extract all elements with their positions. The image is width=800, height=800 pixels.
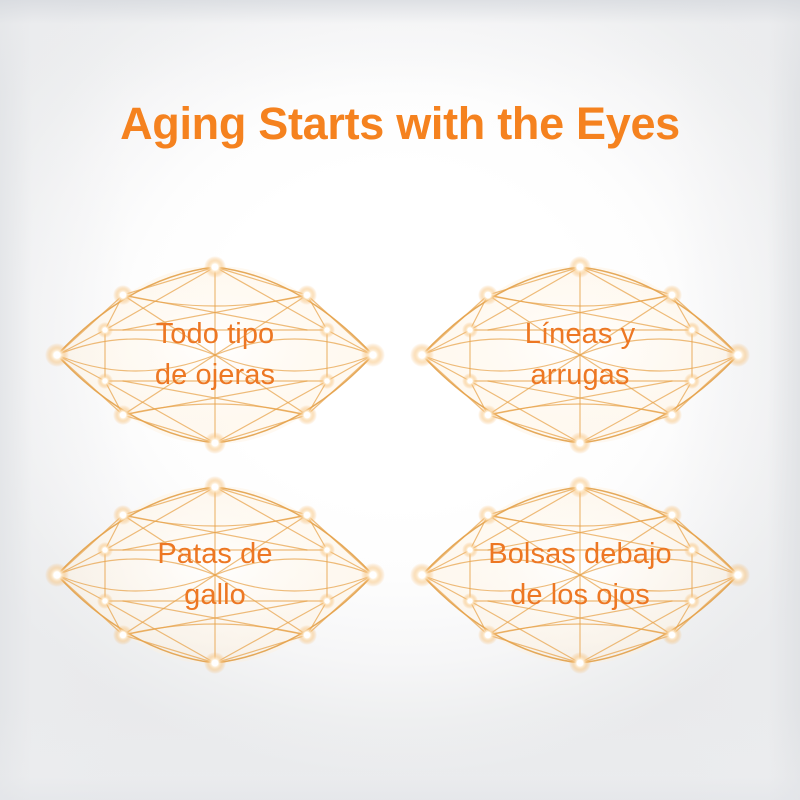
concern-card-crows-feet[interactable]: Patas de gallo — [45, 475, 385, 675]
concern-label-crows-feet: Patas de gallo — [45, 475, 385, 675]
page-title: Aging Starts with the Eyes — [0, 98, 800, 150]
concern-card-under-eye-bags[interactable]: Bolsas debajo de los ojos — [410, 475, 750, 675]
concern-card-dark-circles[interactable]: Todo tipo de ojeras — [45, 255, 385, 455]
poster-canvas: Aging Starts with the Eyes — [0, 0, 800, 800]
concern-label-under-eye-bags: Bolsas debajo de los ojos — [410, 475, 750, 675]
concern-label-lines-wrinkles: Líneas y arrugas — [410, 255, 750, 455]
concern-card-lines-wrinkles[interactable]: Líneas y arrugas — [410, 255, 750, 455]
concern-label-dark-circles: Todo tipo de ojeras — [45, 255, 385, 455]
